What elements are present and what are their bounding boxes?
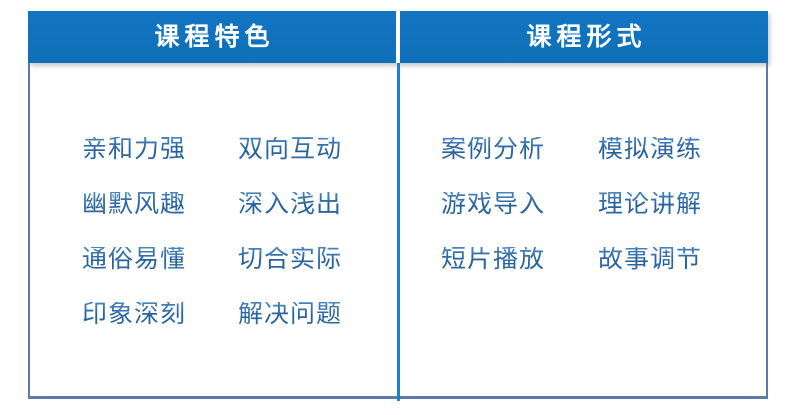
list-row: 游戏导入 理论讲解 [441,177,766,232]
list-row: 通俗易懂 切合实际 [82,232,398,287]
format-item: 案例分析 [441,137,598,162]
format-item: 故事调节 [598,247,702,272]
format-item: 游戏导入 [441,192,598,217]
panel-course-formats: 案例分析 模拟演练 游戏导入 理论讲解 短片播放 故事调节 [398,64,766,397]
feature-list: 亲和力强 双向互动 幽默风趣 深入浅出 通俗易懂 切合实际 印象深刻 解决问题 [30,122,398,342]
feature-item: 深入浅出 [238,192,342,217]
format-item: 理论讲解 [598,192,702,217]
feature-item: 幽默风趣 [82,192,238,217]
panel-title-right: 课程形式 [521,25,646,50]
header-band: 课程特色 课程形式 [28,11,768,63]
panel-course-features: 亲和力强 双向互动 幽默风趣 深入浅出 通俗易懂 切合实际 印象深刻 解决问题 [30,64,398,397]
list-row: 亲和力强 双向互动 [82,122,398,177]
feature-item: 切合实际 [238,247,342,272]
feature-item: 双向互动 [238,137,342,162]
panel-container: 亲和力强 双向互动 幽默风趣 深入浅出 通俗易懂 切合实际 印象深刻 解决问题 [30,64,766,397]
feature-item: 亲和力强 [82,137,238,162]
feature-item: 解决问题 [238,302,342,327]
list-row: 幽默风趣 深入浅出 [82,177,398,232]
format-item: 模拟演练 [598,137,702,162]
feature-item: 印象深刻 [82,302,238,327]
list-row: 案例分析 模拟演练 [441,122,766,177]
format-item: 短片播放 [441,247,598,272]
feature-item: 通俗易懂 [82,247,238,272]
panel-title-left: 课程特色 [149,25,274,50]
format-list: 案例分析 模拟演练 游戏导入 理论讲解 短片播放 故事调节 [398,122,766,287]
panel-header-course-formats: 课程形式 [400,11,768,63]
slide-canvas: 课程特色 课程形式 亲和力强 双向互动 幽默风趣 深入浅出 通俗易懂 切合实际 [0,0,800,415]
panel-header-course-features: 课程特色 [28,11,396,63]
list-row: 短片播放 故事调节 [441,232,766,287]
list-row: 印象深刻 解决问题 [82,287,398,342]
